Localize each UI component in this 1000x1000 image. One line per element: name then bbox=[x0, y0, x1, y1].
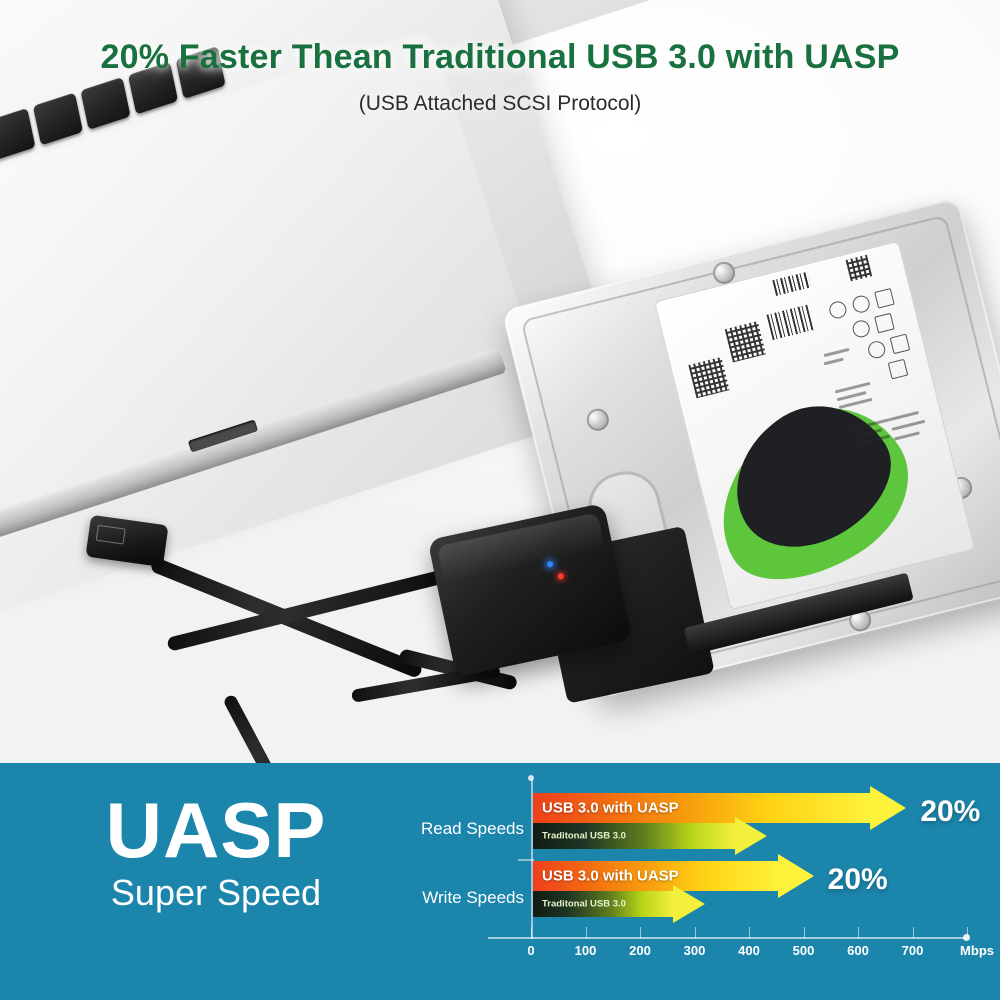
chart-tick bbox=[749, 927, 750, 938]
brand-subtitle: Super Speed bbox=[36, 875, 396, 911]
chart-tick-label: 600 bbox=[847, 943, 869, 958]
qr-code bbox=[725, 321, 766, 362]
chart-tick bbox=[967, 927, 968, 938]
certification-icon bbox=[888, 359, 909, 380]
chart-tick-label: 200 bbox=[629, 943, 651, 958]
subheadline: (USB Attached SCSI Protocol) bbox=[0, 92, 1000, 116]
label-microtext bbox=[889, 411, 919, 421]
chart-tick bbox=[858, 927, 859, 938]
chart-y-axis-cap bbox=[528, 775, 534, 781]
bar-label: Traditonal USB 3.0 bbox=[542, 831, 626, 842]
bar-arrowhead bbox=[870, 786, 906, 830]
bar-arrowhead bbox=[735, 817, 767, 855]
write-improvement-badge: 20% bbox=[828, 863, 888, 897]
headline: 20% Faster Thean Traditional USB 3.0 wit… bbox=[0, 38, 1000, 77]
label-microtext bbox=[894, 431, 920, 440]
bar-shaft: USB 3.0 with UASP bbox=[533, 861, 778, 891]
label-microtext bbox=[824, 348, 850, 357]
chart-tick-label: 0 bbox=[527, 943, 534, 958]
chart-axis-midtick bbox=[518, 859, 534, 861]
certification-icon bbox=[874, 313, 895, 334]
chart-tick bbox=[695, 927, 696, 938]
chart-tick-label: 300 bbox=[684, 943, 706, 958]
certification-icon bbox=[890, 334, 911, 355]
chart-x-axis bbox=[488, 937, 966, 939]
bar-shaft: Traditonal USB 3.0 bbox=[533, 891, 673, 917]
certification-icon bbox=[874, 288, 895, 309]
cable-tail bbox=[222, 693, 309, 765]
qr-code bbox=[846, 255, 873, 282]
chart-tick-label: 700 bbox=[902, 943, 924, 958]
bar-read-traditional: Traditonal USB 3.0 bbox=[533, 823, 767, 849]
read-improvement-badge: 20% bbox=[920, 795, 980, 829]
certification-icon bbox=[828, 300, 849, 321]
chart-tick bbox=[804, 927, 805, 938]
brand-title: UASP bbox=[36, 791, 396, 869]
certification-icon bbox=[851, 294, 872, 315]
chart-tick bbox=[531, 927, 532, 938]
bar-arrowhead bbox=[673, 885, 705, 923]
bar-shaft: Traditonal USB 3.0 bbox=[533, 823, 735, 849]
certification-icon bbox=[866, 339, 887, 360]
chart-category-read: Read Speeds bbox=[404, 819, 524, 839]
chart-tick-label: 100 bbox=[575, 943, 597, 958]
uasp-banner: UASP Super Speed Read Speeds Write Speed… bbox=[0, 763, 1000, 1000]
product-poster: 20% Faster Thean Traditional USB 3.0 wit… bbox=[0, 0, 1000, 1000]
bar-write-traditional: Traditonal USB 3.0 bbox=[533, 891, 705, 917]
certification-icon bbox=[851, 319, 872, 340]
bar-arrowhead bbox=[778, 854, 814, 898]
chart-tick bbox=[586, 927, 587, 938]
power-led-icon bbox=[547, 561, 554, 568]
chart-category-write: Write Speeds bbox=[404, 888, 524, 908]
bar-shaft: USB 3.0 with UASP bbox=[533, 793, 870, 823]
bar-label: USB 3.0 with UASP bbox=[542, 800, 679, 817]
bar-read-uasp: USB 3.0 with UASP bbox=[533, 793, 906, 823]
qr-code bbox=[688, 357, 729, 398]
bar-label: USB 3.0 with UASP bbox=[542, 868, 679, 885]
chart-unit-label: Mbps bbox=[960, 943, 994, 958]
brand-block: UASP Super Speed bbox=[36, 791, 396, 911]
barcode bbox=[772, 272, 811, 296]
chart-tick-label: 500 bbox=[793, 943, 815, 958]
label-microtext bbox=[892, 420, 926, 431]
activity-led-icon bbox=[557, 573, 564, 580]
product-photo: 20% Faster Thean Traditional USB 3.0 wit… bbox=[0, 0, 1000, 765]
barcode bbox=[766, 305, 813, 340]
label-microtext bbox=[824, 358, 844, 366]
speed-comparison-chart: Read Speeds Write Speeds USB 3.0 with UA… bbox=[400, 771, 1000, 1000]
chart-tick bbox=[640, 927, 641, 938]
chart-tick bbox=[913, 927, 914, 938]
bar-label: Traditonal USB 3.0 bbox=[542, 899, 626, 910]
chart-tick-label: 400 bbox=[738, 943, 760, 958]
